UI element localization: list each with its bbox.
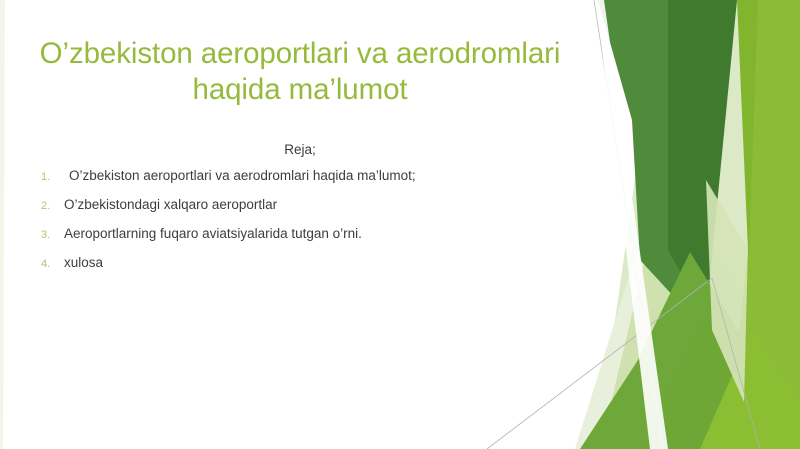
- list-item: 2. O’zbekistondagi xalqaro aeroportlar: [38, 197, 558, 226]
- decor-shape-mid-bottom: [580, 252, 744, 449]
- decor-shape-pale-upper: [596, 0, 800, 449]
- list-item-number: 1.: [38, 171, 64, 183]
- decor-hairline-upper: [594, 0, 663, 449]
- decor-shape-deep-green: [668, 0, 737, 318]
- list-item-number: 2.: [38, 200, 64, 212]
- list-item-label: xulosa: [64, 255, 558, 270]
- list-item-label: Aeroportlarning fuqaro aviatsiyalarida t…: [64, 226, 558, 241]
- list-item: 4. xulosa: [38, 255, 558, 284]
- list-item-label: O’zbekistondagi xalqaro aeroportlar: [64, 197, 558, 212]
- presentation-slide: O’zbekiston aeroportlari va aerodromlari…: [0, 0, 800, 449]
- decor-shape-bright-right: [727, 0, 800, 449]
- decor-shape-bright-bottom: [700, 330, 800, 449]
- list-item-label: O’zbekiston aeroportlari va aerodromlari…: [64, 168, 558, 183]
- subtitle-reja: Reja;: [30, 142, 570, 158]
- decor-shape-dark-band: [598, 0, 735, 325]
- list-item-number: 4.: [38, 258, 64, 270]
- decor-shape-light-right: [742, 0, 800, 449]
- list-item-number: 3.: [38, 229, 64, 241]
- decor-hairline-right: [712, 278, 760, 449]
- slide-text-content: O’zbekiston aeroportlari va aerodromlari…: [0, 0, 600, 449]
- decor-shape-pale-mid: [600, 196, 742, 449]
- list-item: 1. O’zbekiston aeroportlari va aerodroml…: [38, 168, 558, 197]
- agenda-list: 1. O’zbekiston aeroportlari va aerodroml…: [38, 168, 558, 284]
- decor-shape-mid-bottom-strip: [640, 300, 760, 449]
- decor-shape-white-notch: [596, 0, 668, 449]
- list-item: 3. Aeroportlarning fuqaro aviatsiyalarid…: [38, 226, 558, 255]
- page-title: O’zbekiston aeroportlari va aerodromlari…: [30, 36, 570, 108]
- decor-shape-pale-sliver: [706, 180, 748, 402]
